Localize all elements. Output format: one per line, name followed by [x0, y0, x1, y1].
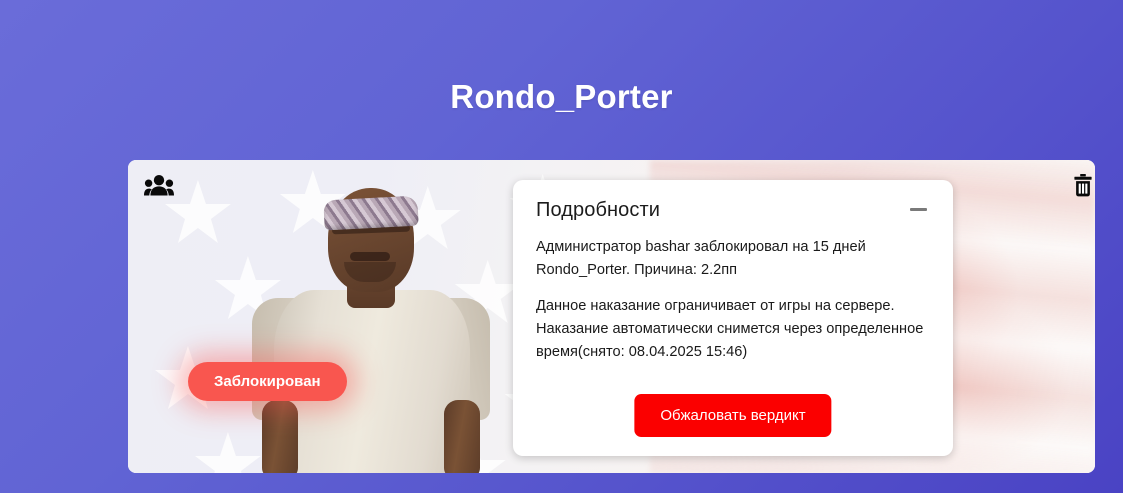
character-arm-right: [444, 400, 480, 473]
minimize-dash-icon[interactable]: [906, 199, 930, 219]
punishment-description-text: Данное наказание ограничивает от игры на…: [536, 295, 930, 364]
details-title: Подробности: [536, 199, 660, 222]
appeal-verdict-button[interactable]: Обжаловать вердикт: [634, 394, 831, 437]
details-card-header: Подробности: [536, 199, 930, 222]
status-badge: Заблокирован: [188, 362, 347, 401]
details-body: Администратор bashar заблокировал на 15 …: [536, 236, 930, 364]
details-card: Подробности Администратор bashar заблоки…: [513, 180, 953, 456]
minimize-dash-bar: [910, 208, 927, 211]
character-bandana: [323, 196, 418, 231]
punishment-summary-text: Администратор bashar заблокировал на 15 …: [536, 236, 930, 282]
members-group-icon[interactable]: [144, 174, 174, 196]
character-arm-left: [262, 400, 298, 473]
page-title: Rondo_Porter: [0, 0, 1123, 116]
character-avatar-image: [246, 172, 496, 473]
trash-icon[interactable]: [1073, 174, 1093, 197]
character-mouth: [350, 252, 390, 261]
